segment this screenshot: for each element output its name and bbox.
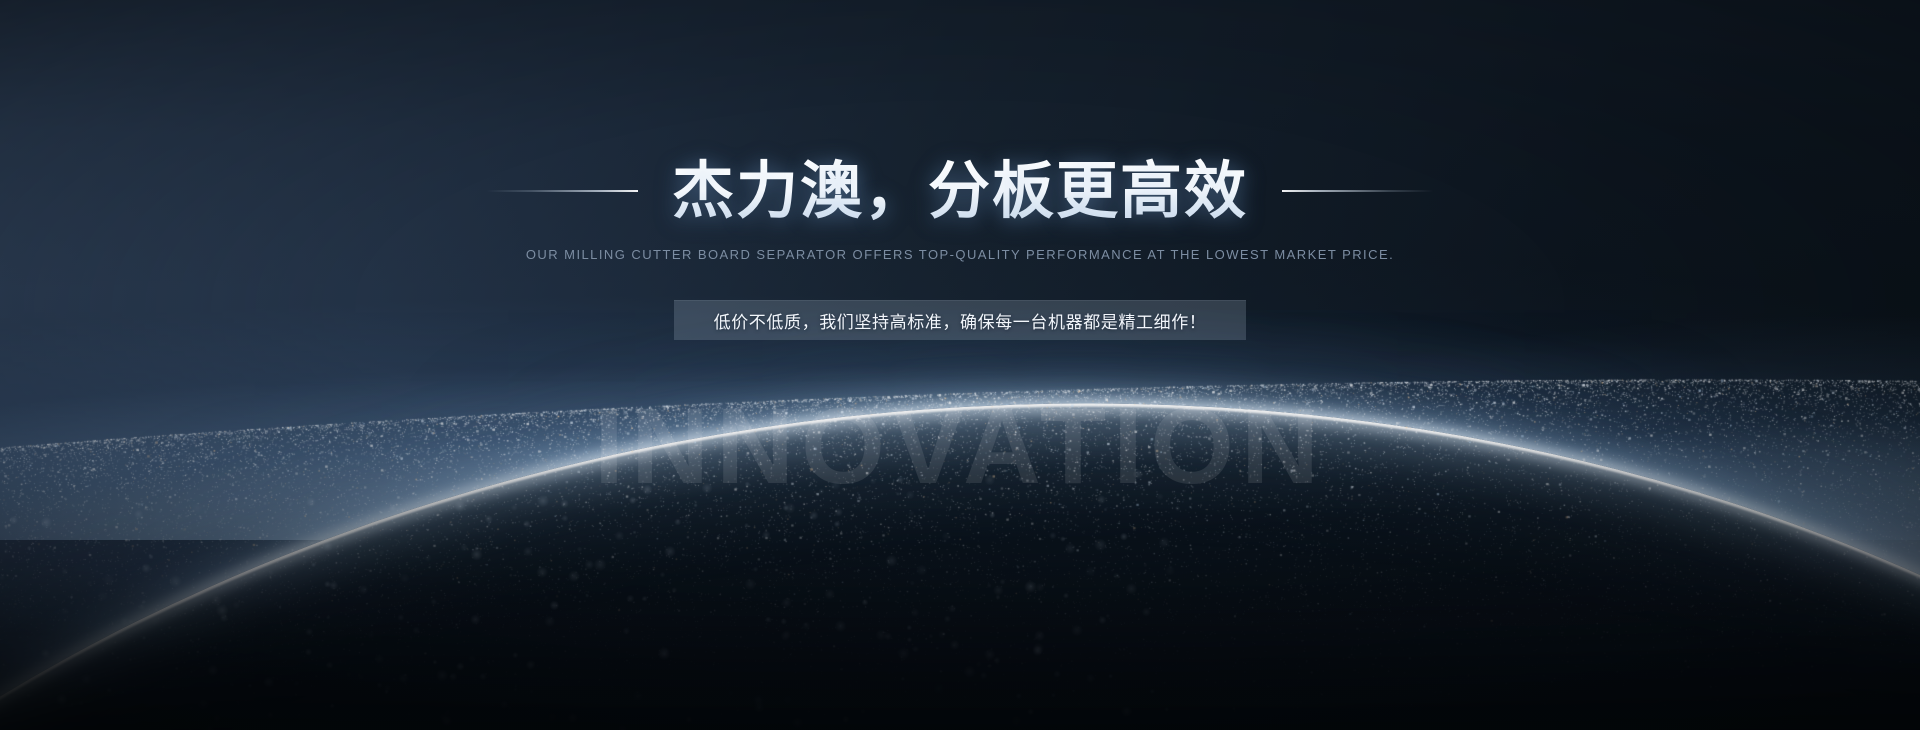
page-title: 杰力澳，分板更高效 bbox=[672, 157, 1248, 226]
hero-banner: 杰力澳，分板更高效 OUR MILLING CUTTER BOARD SEPAR… bbox=[0, 0, 1920, 730]
watermark-text: INNOVATION bbox=[0, 392, 1920, 500]
rule-right-icon bbox=[1282, 190, 1434, 192]
tagline-text: 低价不低质，我们坚持高标准，确保每一台机器都是精工细作！ bbox=[714, 308, 1207, 333]
rule-left-icon bbox=[486, 190, 638, 192]
subtitle: OUR MILLING CUTTER BOARD SEPARATOR OFFER… bbox=[0, 247, 1920, 262]
banner-content: 杰力澳，分板更高效 OUR MILLING CUTTER BOARD SEPAR… bbox=[0, 0, 1920, 730]
headline-row: 杰力澳，分板更高效 bbox=[0, 115, 1920, 268]
tagline-bar: 低价不低质，我们坚持高标准，确保每一台机器都是精工细作！ bbox=[674, 300, 1246, 340]
